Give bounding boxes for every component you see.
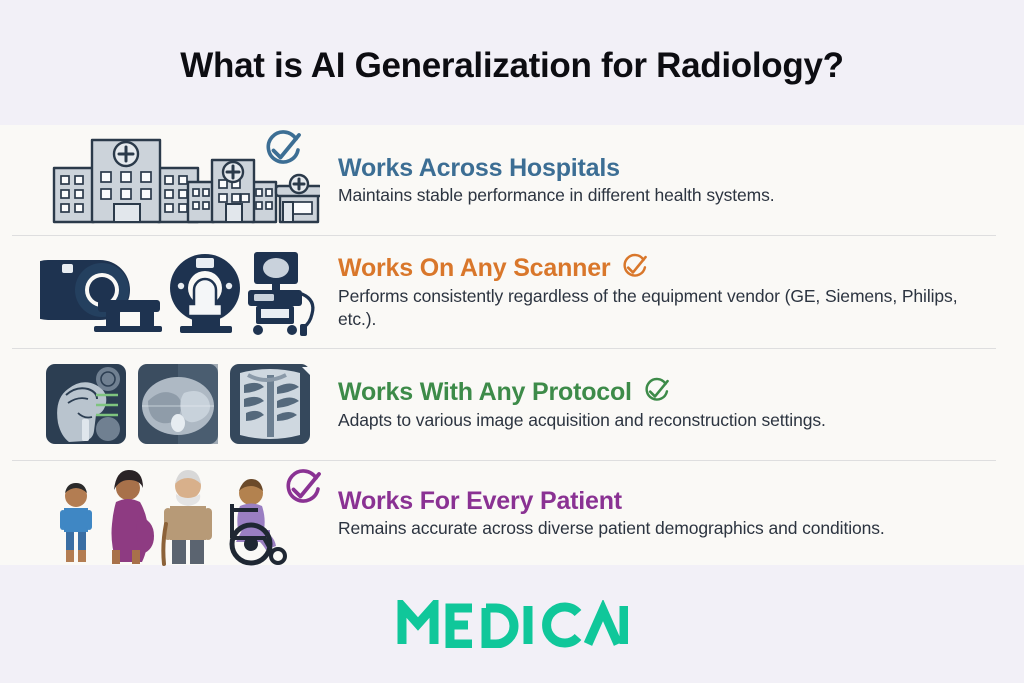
medical-image-tiles-illustration	[30, 348, 330, 460]
feature-row-scanners: Works On Any Scanner Performs consistent…	[0, 235, 1024, 348]
page-title: What is AI Generalization for Radiology?	[180, 40, 843, 86]
check-circle-icon	[280, 468, 324, 512]
feature-text-protocol: Works With Any Protocol Adapts to variou…	[330, 377, 996, 432]
hospital-buildings-illustration	[30, 125, 330, 235]
feature-text-scanners: Works On Any Scanner Performs consistent…	[330, 253, 996, 331]
feature-description-patients: Remains accurate across diverse patient …	[338, 517, 996, 540]
feature-heading-label: Works With Any Protocol	[338, 378, 632, 406]
feature-text-hospitals: Works Across Hospitals Maintains stable …	[330, 154, 996, 207]
feature-row-protocol: Works With Any Protocol Adapts to variou…	[0, 348, 1024, 460]
feature-row-hospitals: Works Across Hospitals Maintains stable …	[0, 125, 1024, 235]
feature-heading-label: Works For Every Patient	[338, 487, 622, 515]
feature-heading-protocol: Works With Any Protocol	[338, 377, 996, 407]
feature-heading-label: Works Across Hospitals	[338, 154, 620, 182]
check-circle-icon	[260, 129, 304, 173]
feature-row-patients: Works For Every Patient Remains accurate…	[0, 460, 1024, 566]
feature-heading-hospitals: Works Across Hospitals	[338, 154, 996, 182]
feature-heading-scanners: Works On Any Scanner	[338, 253, 996, 283]
feature-text-patients: Works For Every Patient Remains accurate…	[330, 487, 996, 540]
feature-heading-label: Works On Any Scanner	[338, 254, 610, 282]
medical-scanners-illustration	[30, 235, 330, 348]
check-circle-icon	[641, 377, 671, 407]
footer-band	[0, 565, 1024, 683]
feature-heading-patients: Works For Every Patient	[338, 487, 996, 515]
feature-description-hospitals: Maintains stable performance in differen…	[338, 184, 996, 207]
diverse-patients-illustration	[30, 460, 330, 566]
medicai-logo	[396, 600, 628, 648]
feature-description-scanners: Performs consistently regardless of the …	[338, 285, 996, 331]
title-band: What is AI Generalization for Radiology?	[0, 0, 1024, 125]
infographic-root: What is AI Generalization for Radiology?	[0, 0, 1024, 683]
feature-list-panel: Works Across Hospitals Maintains stable …	[0, 125, 1024, 565]
feature-description-protocol: Adapts to various image acquisition and …	[338, 409, 996, 432]
check-circle-icon	[619, 253, 649, 283]
